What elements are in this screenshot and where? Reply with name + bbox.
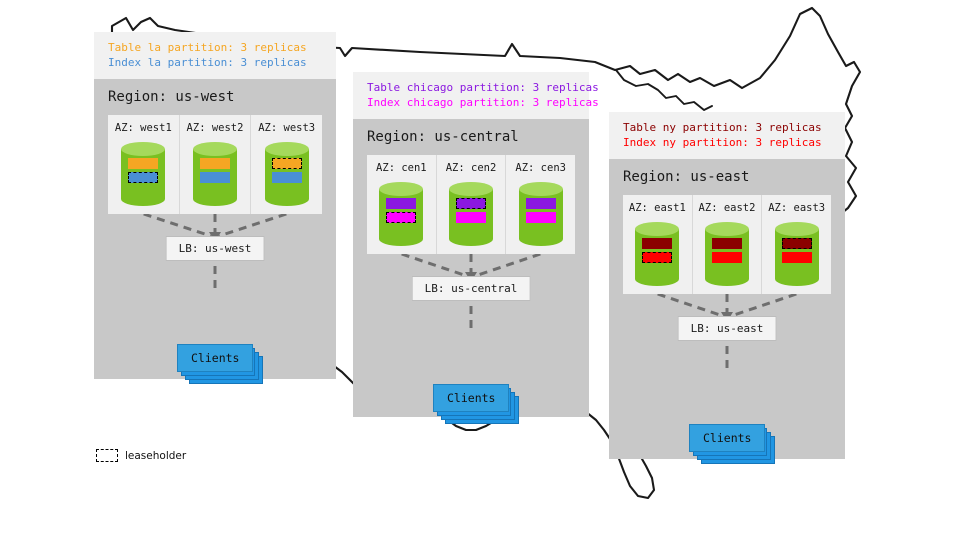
database-cylinder-icon[interactable] [519, 182, 563, 244]
replica-index [712, 252, 742, 263]
database-cylinder-icon[interactable] [265, 142, 309, 204]
load-balancer-us-central[interactable]: LB: us-central [412, 276, 531, 301]
az-strip-us-east: AZ: east1AZ: east2AZ: east3 [623, 195, 831, 294]
az-cell-cen2[interactable]: AZ: cen2 [437, 155, 507, 254]
region-title-us-east: Region: us-east [609, 159, 845, 195]
database-cylinder-icon[interactable] [705, 222, 749, 284]
database-cylinder-icon[interactable] [379, 182, 423, 244]
az-label: AZ: west3 [258, 122, 315, 134]
partition-header-us-central: Table chicago partition: 3 replicasIndex… [353, 72, 589, 119]
lb-connector-zone: LB: us-east [609, 294, 845, 368]
connector-line [475, 254, 540, 276]
index-partition-line: Index ny partition: 3 replicas [623, 135, 831, 150]
replica-table [386, 198, 416, 209]
replica-table-leaseholder [782, 238, 812, 249]
database-cylinder-icon[interactable] [635, 222, 679, 284]
replica-stack [379, 198, 423, 223]
load-balancer-us-west[interactable]: LB: us-west [166, 236, 265, 261]
region-title-us-central: Region: us-central [353, 119, 589, 155]
replica-table [642, 238, 672, 249]
replica-stack [635, 238, 679, 263]
cylinder-top [265, 142, 309, 156]
cylinder-top [193, 142, 237, 156]
database-cylinder-icon[interactable] [193, 142, 237, 204]
az-strip-us-west: AZ: west1AZ: west2AZ: west3 [108, 115, 322, 214]
az-cell-west2[interactable]: AZ: west2 [180, 115, 252, 214]
az-cell-east3[interactable]: AZ: east3 [762, 195, 831, 294]
lb-connector-zone: LB: us-west [94, 214, 336, 288]
replica-table [526, 198, 556, 209]
az-cell-east2[interactable]: AZ: east2 [693, 195, 763, 294]
region-panel-us-east: Table ny partition: 3 replicasIndex ny p… [609, 112, 845, 459]
clients-label[interactable]: Clients [689, 424, 765, 452]
cylinder-top [379, 182, 423, 196]
cylinder-top [775, 222, 819, 236]
az-cell-cen1[interactable]: AZ: cen1 [367, 155, 437, 254]
replica-table-leaseholder [272, 158, 302, 169]
replica-stack [265, 158, 309, 183]
load-balancer-us-east[interactable]: LB: us-east [678, 316, 777, 341]
az-label: AZ: west1 [115, 122, 172, 134]
clients-stack: Clients [689, 424, 765, 452]
replica-stack [705, 238, 749, 263]
az-cell-east1[interactable]: AZ: east1 [623, 195, 693, 294]
replica-stack [775, 238, 819, 263]
replica-index [200, 172, 230, 183]
region-body-us-central: Region: us-centralAZ: cen1AZ: cen2AZ: ce… [353, 119, 589, 417]
replica-index-leaseholder [642, 252, 672, 263]
region-body-us-east: Region: us-eastAZ: east1AZ: east2AZ: eas… [609, 159, 845, 459]
cylinder-top [121, 142, 165, 156]
clients-stack: Clients [177, 344, 253, 372]
region-panel-us-west: Table la partition: 3 replicasIndex la p… [94, 32, 336, 379]
az-cell-west3[interactable]: AZ: west3 [251, 115, 322, 214]
database-cylinder-icon[interactable] [121, 142, 165, 204]
replica-table [712, 238, 742, 249]
clients-stack: Clients [433, 384, 509, 412]
cylinder-top [449, 182, 493, 196]
replica-stack [519, 198, 563, 223]
legend-label: leaseholder [125, 450, 186, 462]
az-label: AZ: cen2 [446, 162, 497, 174]
clients-label[interactable]: Clients [177, 344, 253, 372]
connector-line [658, 294, 723, 316]
clients-label[interactable]: Clients [433, 384, 509, 412]
legend: leaseholder [96, 449, 186, 462]
connector-line [402, 254, 467, 276]
table-partition-line: Table la partition: 3 replicas [108, 40, 322, 55]
az-cell-cen3[interactable]: AZ: cen3 [506, 155, 575, 254]
az-label: AZ: east1 [629, 202, 686, 214]
database-cylinder-icon[interactable] [775, 222, 819, 284]
region-body-us-west: Region: us-westAZ: west1AZ: west2AZ: wes… [94, 79, 336, 379]
region-title-us-west: Region: us-west [94, 79, 336, 115]
connector-line [144, 214, 211, 236]
lb-connector-zone: LB: us-central [353, 254, 589, 328]
az-label: AZ: west2 [187, 122, 244, 134]
replica-table [200, 158, 230, 169]
replica-stack [121, 158, 165, 183]
replica-index-leaseholder [128, 172, 158, 183]
replica-index [782, 252, 812, 263]
replica-stack [449, 198, 493, 223]
table-partition-line: Table ny partition: 3 replicas [623, 120, 831, 135]
az-label: AZ: east2 [699, 202, 756, 214]
az-strip-us-central: AZ: cen1AZ: cen2AZ: cen3 [367, 155, 575, 254]
replica-index [456, 212, 486, 223]
replica-index-leaseholder [386, 212, 416, 223]
cylinder-top [635, 222, 679, 236]
cylinder-top [519, 182, 563, 196]
az-label: AZ: cen3 [515, 162, 566, 174]
replica-index [272, 172, 302, 183]
az-label: AZ: east3 [768, 202, 825, 214]
replica-stack [193, 158, 237, 183]
az-label: AZ: cen1 [376, 162, 427, 174]
index-partition-line: Index chicago partition: 3 replicas [367, 95, 575, 110]
index-partition-line: Index la partition: 3 replicas [108, 55, 322, 70]
replica-table-leaseholder [456, 198, 486, 209]
partition-header-us-west: Table la partition: 3 replicasIndex la p… [94, 32, 336, 79]
replica-index [526, 212, 556, 223]
connector-line [219, 214, 286, 236]
az-cell-west1[interactable]: AZ: west1 [108, 115, 180, 214]
connector-line [731, 294, 796, 316]
database-cylinder-icon[interactable] [449, 182, 493, 244]
leaseholder-swatch-icon [96, 449, 118, 462]
partition-header-us-east: Table ny partition: 3 replicasIndex ny p… [609, 112, 845, 159]
cylinder-top [705, 222, 749, 236]
table-partition-line: Table chicago partition: 3 replicas [367, 80, 575, 95]
region-panel-us-central: Table chicago partition: 3 replicasIndex… [353, 72, 589, 417]
replica-table [128, 158, 158, 169]
